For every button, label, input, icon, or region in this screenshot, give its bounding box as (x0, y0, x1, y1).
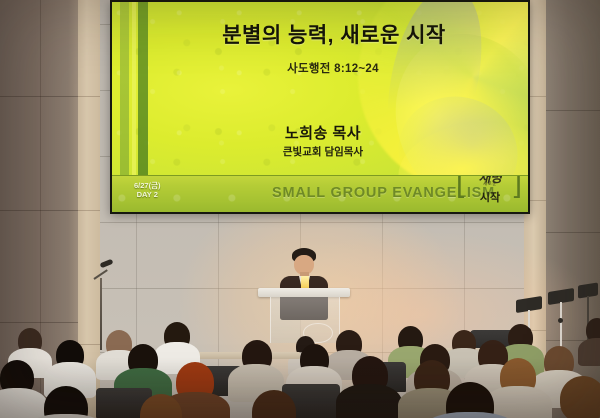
slide-stripe-left (120, 2, 129, 188)
slide-scripture-reference: 사도행전 8:12~24 (158, 60, 508, 76)
podium-top (258, 288, 350, 297)
slide-speaker-name: 노희송 목사 (158, 122, 488, 143)
slide-speaker-role: 큰빛교회 담임목사 (158, 144, 488, 159)
slide-stripe-left (132, 2, 136, 188)
event-date: 6/27(금) (134, 181, 161, 190)
slide-title: 분별의 능력, 새로운 시작 (158, 19, 510, 49)
projection-screen: 분별의 능력, 새로운 시작 사도행전 8:12~24 노희송 목사 큰빛교회 … (110, 0, 530, 214)
event-date-badge: 6/27(금) DAY 2 (134, 181, 161, 200)
logo-sub-text: 새로운 (468, 181, 512, 187)
event-day: DAY 2 (134, 190, 161, 199)
slide-bottom-banner: 6/27(금) DAY 2 SMALL GROUP EVANGELISM [ ]… (112, 175, 528, 212)
slide-stripe-left (138, 2, 148, 188)
event-logo: [ ] 새명 새로운 시작 (458, 175, 520, 210)
conference-hall-photo: 분별의 능력, 새로운 시작 사도행전 8:12~24 노희송 목사 큰빛교회 … (0, 0, 600, 418)
music-stand (548, 290, 578, 352)
logo-bracket-left: [ (456, 175, 464, 198)
logo-bracket-right: ] (514, 175, 522, 198)
logo-word: 시작 (468, 189, 512, 205)
